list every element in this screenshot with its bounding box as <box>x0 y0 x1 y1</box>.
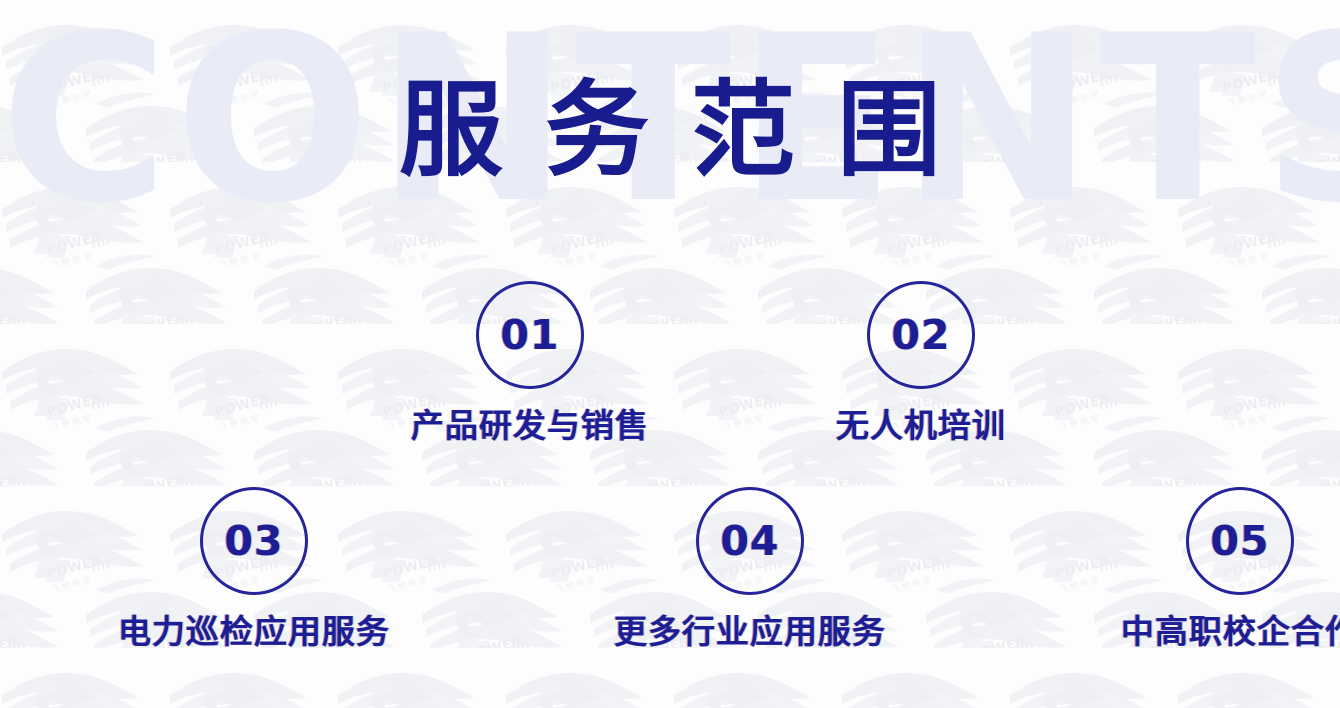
service-number-03: 03 <box>224 521 283 562</box>
service-item-01[interactable]: 01 产品研发与销售 <box>411 281 649 446</box>
service-item-05[interactable]: 05 中高职校企合作 <box>1121 487 1340 652</box>
service-item-04[interactable]: 04 更多行业应用服务 <box>614 487 886 652</box>
service-label-01: 产品研发与销售 <box>411 406 649 446</box>
service-label-02: 无人机培训 <box>836 406 1006 446</box>
service-number-02: 02 <box>891 315 950 356</box>
slide-canvas: POWER IIII 飞鹏航空 CONTENTS 服务范围 01 <box>0 0 1340 708</box>
service-label-05: 中高职校企合作 <box>1121 612 1340 652</box>
service-number-circle-03: 03 <box>200 487 308 595</box>
service-number-01: 01 <box>500 315 559 356</box>
service-number-04: 04 <box>720 521 779 562</box>
page-title: 服务范围 <box>0 74 1340 186</box>
service-number-circle-05: 05 <box>1186 487 1294 595</box>
service-item-03[interactable]: 03 电力巡检应用服务 <box>118 487 390 652</box>
service-label-04: 更多行业应用服务 <box>614 612 886 652</box>
service-number-circle-02: 02 <box>867 281 975 389</box>
service-number-circle-04: 04 <box>696 487 804 595</box>
service-item-02[interactable]: 02 无人机培训 <box>836 281 1006 446</box>
service-number-05: 05 <box>1210 521 1269 562</box>
service-label-03: 电力巡检应用服务 <box>118 612 390 652</box>
service-number-circle-01: 01 <box>476 281 584 389</box>
